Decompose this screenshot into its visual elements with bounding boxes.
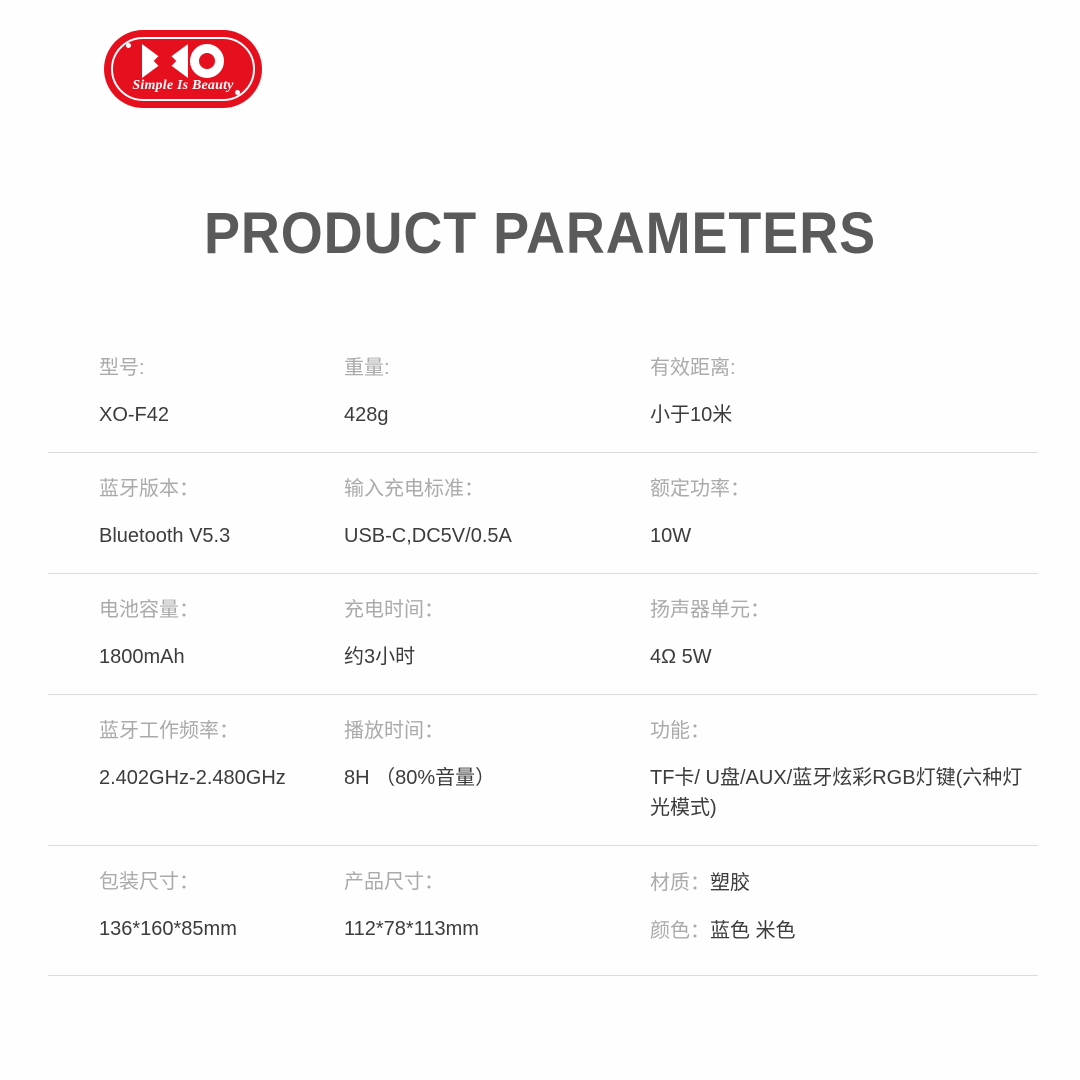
spec-value: XO-F42 bbox=[99, 400, 332, 430]
spec-cell: 包装尺寸： 136*160*85mm bbox=[48, 846, 344, 975]
spec-label: 有效距离: bbox=[650, 354, 1026, 382]
spec-cell: 有效距离: 小于10米 bbox=[650, 332, 1038, 452]
spec-inline-pair: 颜色：蓝色 米色 bbox=[650, 916, 1026, 946]
logo-xo-mark-icon bbox=[104, 41, 262, 81]
spec-cell: 蓝牙版本： Bluetooth V5.3 bbox=[48, 453, 344, 573]
spec-value: 约3小时 bbox=[344, 642, 638, 672]
spec-inline-pair: 材质：塑胶 bbox=[650, 868, 1026, 898]
spec-value: 小于10米 bbox=[650, 400, 1026, 430]
spec-value: Bluetooth V5.3 bbox=[99, 521, 332, 551]
spec-cell: 输入充电标准： USB-C,DC5V/0.5A bbox=[344, 453, 650, 573]
spec-cell: 重量: 428g bbox=[344, 332, 650, 452]
spec-label: 材质： bbox=[650, 872, 710, 894]
spec-label: 播放时间： bbox=[344, 717, 638, 745]
spec-label: 电池容量： bbox=[99, 596, 332, 624]
spec-label: 包装尺寸： bbox=[99, 868, 332, 896]
spec-value: 428g bbox=[344, 400, 638, 430]
table-row: 蓝牙工作频率： 2.402GHz-2.480GHz 播放时间： 8H （80%音… bbox=[48, 695, 1038, 846]
spec-label: 型号: bbox=[99, 354, 332, 382]
table-row: 包装尺寸： 136*160*85mm 产品尺寸： 112*78*113mm 材质… bbox=[48, 846, 1038, 976]
spec-label: 扬声器单元： bbox=[650, 596, 1026, 624]
spec-cell: 型号: XO-F42 bbox=[48, 332, 344, 452]
spec-cell: 蓝牙工作频率： 2.402GHz-2.480GHz bbox=[48, 695, 344, 845]
spec-value: 1800mAh bbox=[99, 642, 332, 672]
spec-cell: 充电时间： 约3小时 bbox=[344, 574, 650, 694]
table-row: 电池容量： 1800mAh 充电时间： 约3小时 扬声器单元： 4Ω 5W bbox=[48, 574, 1038, 695]
spec-value: 塑胶 bbox=[710, 872, 750, 894]
spec-label: 颜色： bbox=[650, 920, 710, 942]
table-row: 蓝牙版本： Bluetooth V5.3 输入充电标准： USB-C,DC5V/… bbox=[48, 453, 1038, 574]
spec-label: 额定功率： bbox=[650, 475, 1026, 503]
spec-label: 输入充电标准： bbox=[344, 475, 638, 503]
page-title: PRODUCT PARAMETERS bbox=[38, 200, 1042, 267]
spec-cell: 产品尺寸： 112*78*113mm bbox=[344, 846, 650, 975]
spec-value: 4Ω 5W bbox=[650, 642, 1026, 672]
spec-label: 充电时间： bbox=[344, 596, 638, 624]
logo-x-notch bbox=[154, 50, 177, 73]
logo-tagline: Simple Is Beauty bbox=[104, 78, 262, 94]
spec-label: 产品尺寸： bbox=[344, 868, 638, 896]
spec-value: TF卡/ U盘/AUX/蓝牙炫彩RGB灯键(六种灯光模式) bbox=[650, 763, 1026, 823]
logo-x-glyph-icon bbox=[142, 44, 188, 78]
brand-logo: Simple Is Beauty bbox=[104, 30, 262, 108]
spec-value: 蓝色 米色 bbox=[710, 920, 796, 942]
spec-cell: 额定功率： 10W bbox=[650, 453, 1038, 573]
spec-value: 136*160*85mm bbox=[99, 914, 332, 944]
spec-value: 8H （80%音量） bbox=[344, 763, 638, 793]
logo-pill-shape: Simple Is Beauty bbox=[104, 30, 262, 108]
spec-value: USB-C,DC5V/0.5A bbox=[344, 521, 638, 551]
spec-cell: 材质：塑胶 颜色：蓝色 米色 bbox=[650, 846, 1038, 975]
product-parameters-page: Simple Is Beauty PRODUCT PARAMETERS 型号: … bbox=[0, 0, 1080, 1080]
spec-label: 蓝牙版本： bbox=[99, 475, 332, 503]
logo-o-glyph-icon bbox=[190, 44, 224, 78]
spec-label: 重量: bbox=[344, 354, 638, 382]
spec-label: 蓝牙工作频率： bbox=[99, 717, 332, 745]
spec-cell: 功能： TF卡/ U盘/AUX/蓝牙炫彩RGB灯键(六种灯光模式) bbox=[650, 695, 1038, 845]
table-row: 型号: XO-F42 重量: 428g 有效距离: 小于10米 bbox=[48, 332, 1038, 453]
spec-cell: 扬声器单元： 4Ω 5W bbox=[650, 574, 1038, 694]
spec-cell: 电池容量： 1800mAh bbox=[48, 574, 344, 694]
spec-label: 功能： bbox=[650, 717, 1026, 745]
spec-cell: 播放时间： 8H （80%音量） bbox=[344, 695, 650, 845]
spec-value: 112*78*113mm bbox=[344, 914, 638, 944]
spec-value: 2.402GHz-2.480GHz bbox=[99, 763, 332, 793]
spec-value: 10W bbox=[650, 521, 1026, 551]
spec-table: 型号: XO-F42 重量: 428g 有效距离: 小于10米 蓝牙版本： Bl… bbox=[48, 332, 1038, 976]
